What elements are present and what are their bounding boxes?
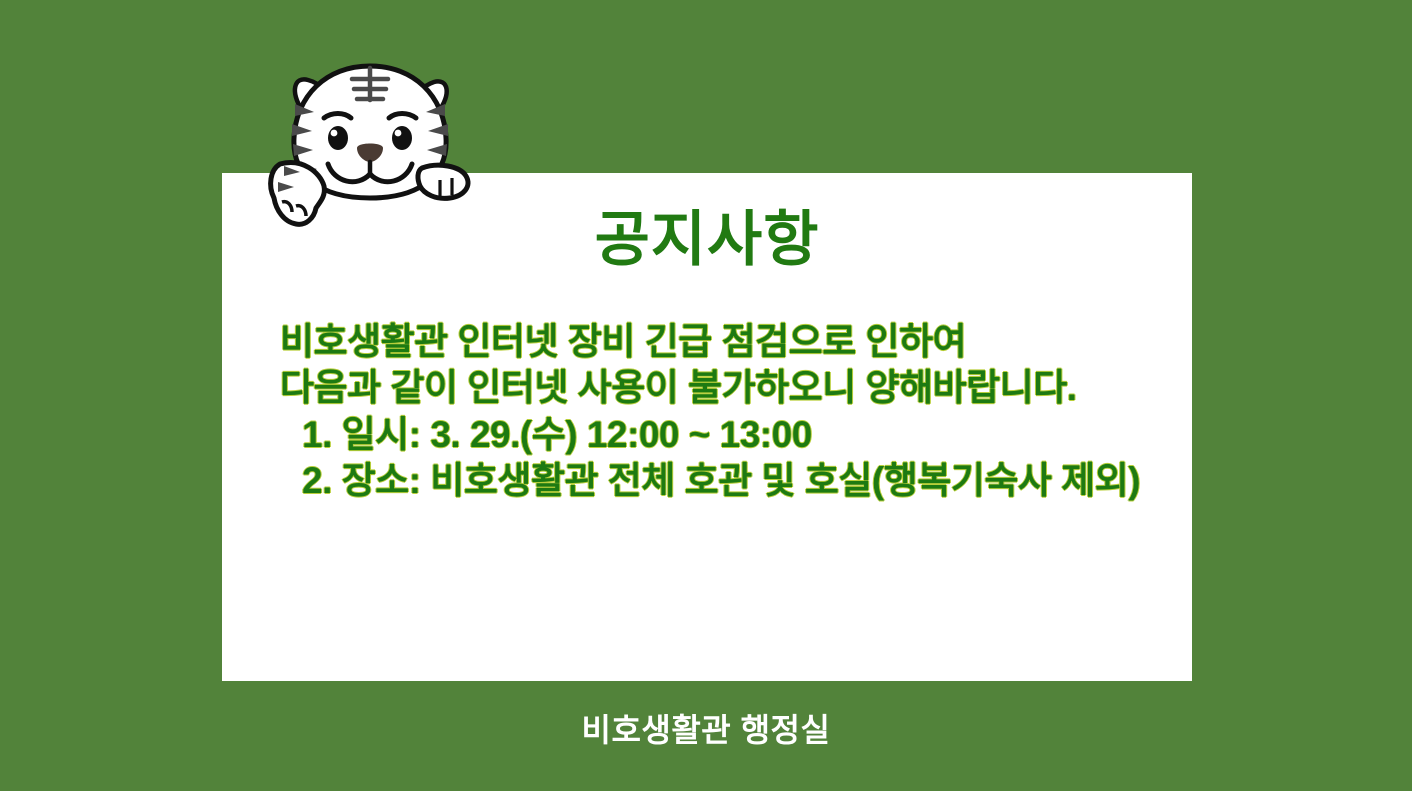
white-tiger-mascot-icon <box>262 52 478 232</box>
notice-body-line-3: 1. 일시: 3. 29.(수) 12:00 ~ 13:00 <box>280 412 1180 458</box>
notice-body-line-2: 다음과 같이 인터넷 사용이 불가하오니 양해바랍니다. <box>280 365 1180 411</box>
footer-signature: 비호생활관 행정실 <box>0 705 1412 751</box>
notice-body-line-1: 비호생활관 인터넷 장비 긴급 점검으로 인하여 <box>280 319 1180 365</box>
notice-body-line-4: 2. 장소: 비호생활관 전체 호관 및 호실(행복기숙사 제외) <box>280 458 1180 504</box>
notice-poster: 공지사항 비호생활관 인터넷 장비 긴급 점검으로 인하여 다음과 같이 인터넷… <box>0 0 1412 791</box>
notice-card: 공지사항 비호생활관 인터넷 장비 긴급 점검으로 인하여 다음과 같이 인터넷… <box>222 173 1192 681</box>
notice-body: 비호생활관 인터넷 장비 긴급 점검으로 인하여 다음과 같이 인터넷 사용이 … <box>280 319 1180 504</box>
